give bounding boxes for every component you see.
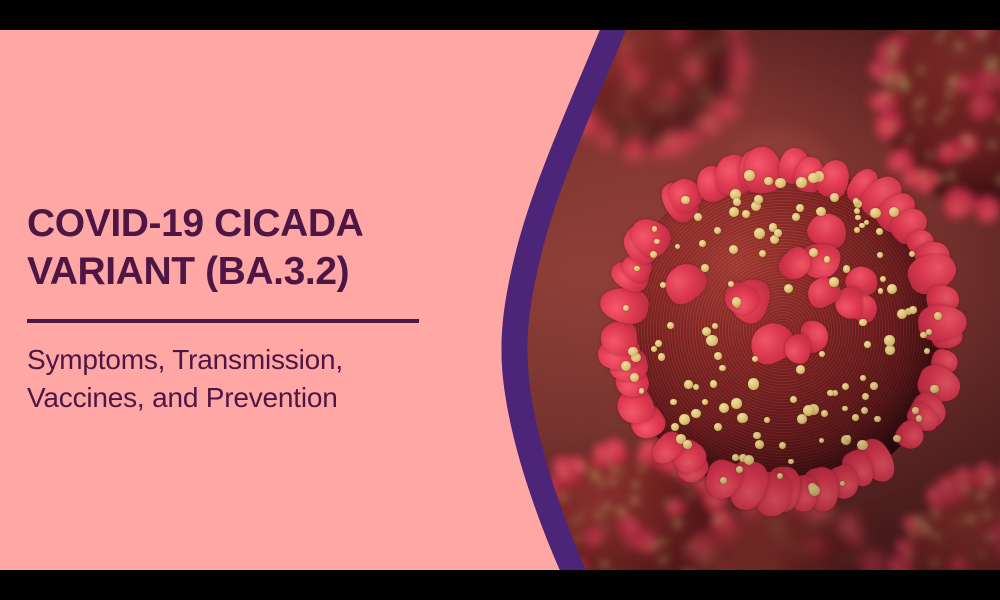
- virion-receptor-dot: [650, 251, 657, 258]
- virion-receptor-dot: [689, 99, 693, 103]
- virion-receptor-dot: [710, 380, 717, 387]
- virion-receptor-dot: [736, 466, 743, 473]
- virion-receptor-dot: [580, 534, 584, 538]
- virion-receptor-dot-layer: [618, 165, 948, 495]
- virion-receptor-dot: [552, 516, 559, 523]
- virion-receptor-dot: [748, 378, 759, 389]
- virion-receptor-dot: [696, 66, 701, 71]
- page-title: COVID-19 CICADA VARIANT (BA.3.2): [27, 200, 447, 295]
- subhead-line-2: Vaccines, and Prevention: [27, 379, 447, 417]
- subhead-line-1: Symptoms, Transmission,: [27, 341, 447, 379]
- virion-receptor-dot: [916, 415, 923, 422]
- virion-receptor-dot: [562, 472, 566, 476]
- virion-receptor-dot: [884, 335, 895, 346]
- banner-screen: COVID-19 CICADA VARIANT (BA.3.2) Symptom…: [0, 0, 1000, 600]
- page-subtitle: Symptoms, Transmission, Vaccines, and Pr…: [27, 341, 447, 417]
- virion-receptor-dot: [796, 365, 805, 374]
- virion-receptor-dot: [623, 305, 629, 311]
- virion-receptor-dot: [714, 227, 721, 234]
- virion-receptor-dot: [946, 92, 951, 97]
- virion-receptor-dot: [682, 106, 685, 109]
- virion-receptor-dot: [744, 455, 754, 465]
- virion-receptor-dot: [720, 39, 724, 43]
- virion-receptor-dot: [754, 228, 765, 239]
- virion-receptor-dot: [870, 382, 878, 390]
- virion-receptor-dot: [861, 407, 868, 414]
- virion-receptor-dot: [956, 522, 960, 526]
- virion-receptor-dot: [670, 111, 674, 115]
- virion-receptor-dot: [714, 352, 722, 360]
- virion-receptor-dot: [842, 406, 848, 412]
- virion-receptor-dot: [645, 37, 648, 40]
- virion-receptor-dot: [969, 516, 976, 523]
- letterbox-bar-top: [0, 0, 1000, 30]
- virion-receptor-dot: [799, 546, 804, 551]
- virion-receptor-dot: [888, 72, 894, 78]
- virion-receptor-dot: [584, 106, 590, 112]
- virion-receptor-dot: [808, 173, 818, 183]
- headline-line-1: COVID-19 CICADA: [27, 200, 447, 248]
- virion-receptor-dot: [986, 62, 993, 69]
- virion-receptor-dot: [625, 89, 630, 94]
- virion-receptor-dot: [878, 288, 883, 293]
- virion-receptor-dot: [606, 121, 612, 127]
- virion-receptor-dot: [683, 440, 692, 449]
- virion-receptor-dot: [792, 213, 800, 221]
- virion-receptor-dot: [737, 413, 747, 423]
- virion-receptor-dot: [893, 85, 898, 90]
- virion-receptor-dot: [652, 542, 658, 548]
- virion-receptor-dot: [796, 204, 804, 212]
- virion-receptor-dot: [870, 208, 880, 218]
- virion-receptor-dot: [889, 125, 894, 130]
- virion-receptor-dot: [795, 537, 799, 541]
- letterbox-bar-bottom: [0, 570, 1000, 600]
- virion-receptor-dot: [719, 365, 725, 371]
- virion-receptor-dot: [579, 465, 585, 471]
- virion-receptor-dot: [774, 229, 782, 237]
- virion-receptor-dot: [674, 520, 681, 527]
- virion-receptor-dot: [932, 511, 938, 517]
- virion-receptor-dot: [661, 539, 666, 544]
- virion-receptor-dot: [860, 375, 866, 381]
- virion-receptor-dot: [703, 86, 707, 90]
- virion-receptor-dot: [759, 250, 766, 257]
- virion-receptor-dot: [706, 555, 712, 561]
- virion-receptor-dot: [779, 442, 786, 449]
- virion-receptor-dot: [819, 438, 824, 443]
- virion-receptor-dot: [714, 423, 722, 431]
- virion-receptor-dot: [796, 177, 807, 188]
- virion-receptor-dot: [809, 485, 820, 496]
- virion-receptor-dot: [608, 110, 611, 113]
- virion-receptor-dot: [885, 345, 895, 355]
- virion-receptor-dot: [898, 73, 903, 78]
- virion-receptor-dot: [653, 136, 656, 139]
- virion-receptor-dot: [651, 346, 657, 352]
- virion-receptor-dot: [541, 493, 545, 497]
- virion-receptor-dot: [764, 417, 770, 423]
- virion-receptor-dot: [621, 361, 631, 371]
- virion-receptor-dot: [784, 284, 794, 294]
- virion-receptor-dot: [624, 41, 629, 46]
- virion-receptor-dot: [704, 46, 708, 50]
- virion-receptor-dot: [731, 398, 741, 408]
- virion-receptor-dot: [889, 45, 896, 52]
- virion-receptor-dot: [733, 198, 741, 206]
- primary-virion: [618, 165, 948, 495]
- virion-receptor-dot: [712, 555, 716, 559]
- virion-receptor-dot: [781, 539, 786, 544]
- virion-receptor-dot: [773, 519, 779, 525]
- virion-receptor-dot: [712, 323, 718, 329]
- virion-receptor-dot: [934, 534, 940, 540]
- virion-receptor-dot: [852, 414, 859, 421]
- virion-receptor-dot: [953, 75, 957, 79]
- virion-receptor-dot: [663, 85, 667, 89]
- virion-receptor-dot: [918, 67, 924, 73]
- virion-receptor-dot: [681, 196, 689, 204]
- virion-receptor-dot: [639, 388, 644, 393]
- virion-receptor-dot: [694, 213, 702, 221]
- virion-receptor-dot: [752, 356, 758, 362]
- virion-receptor-dot: [675, 244, 680, 249]
- virion-receptor-dot: [855, 215, 861, 221]
- virion-receptor-dot: [684, 58, 689, 63]
- virion-receptor-dot: [986, 479, 993, 486]
- virion-receptor-dot: [937, 117, 942, 122]
- virion-receptor-dot: [993, 68, 999, 74]
- virion-receptor-dot: [689, 494, 693, 498]
- virion-receptor-dot: [811, 512, 815, 516]
- virion-receptor-dot: [824, 256, 830, 262]
- virion-receptor-dot: [819, 351, 825, 357]
- virion-receptor-dot: [859, 223, 865, 229]
- virion-receptor-dot: [671, 423, 679, 431]
- virion-receptor-dot: [897, 309, 907, 319]
- virion-receptor-dot: [764, 177, 773, 186]
- virion-receptor-dot: [570, 103, 576, 109]
- virion-receptor-dot: [790, 396, 797, 403]
- headline-line-2: VARIANT (BA.3.2): [27, 248, 447, 296]
- virion-receptor-dot: [604, 504, 610, 510]
- virion-receptor-dot: [909, 306, 917, 314]
- virion-receptor-dot: [652, 226, 658, 232]
- virion-receptor-dot: [632, 117, 635, 120]
- virion-receptor-dot: [634, 266, 640, 272]
- virion-receptor-dot: [719, 403, 729, 413]
- virion-receptor-dot: [857, 440, 867, 450]
- virion-receptor-dot: [702, 399, 708, 405]
- virion-receptor-dot: [684, 380, 692, 388]
- virion-receptor-dot: [880, 276, 886, 282]
- virion-receptor-dot: [922, 529, 929, 536]
- virion-receptor-dot: [829, 277, 839, 287]
- virion-receptor-dot: [876, 228, 883, 235]
- virion-receptor-dot: [827, 390, 834, 397]
- virion-receptor-dot: [732, 297, 741, 306]
- virion-receptor-dot: [776, 531, 781, 536]
- virion-receptor-dot: [980, 552, 985, 557]
- virion-receptor-dot: [734, 554, 737, 557]
- banner-stage: COVID-19 CICADA VARIANT (BA.3.2) Symptom…: [0, 30, 1000, 570]
- virion-receptor-dot: [939, 32, 943, 36]
- virion-receptor-dot: [909, 251, 915, 257]
- virion-receptor-dot: [985, 57, 989, 61]
- virion-receptor-dot: [585, 95, 590, 100]
- virion-receptor-dot: [552, 547, 555, 550]
- virion-receptor-dot: [967, 140, 972, 145]
- virion-receptor-dot: [978, 492, 985, 499]
- virion-receptor-dot: [854, 208, 860, 214]
- virion-receptor-dot: [863, 546, 866, 549]
- virion-receptor-dot: [572, 520, 577, 525]
- virion-receptor-dot: [934, 312, 943, 321]
- virion-receptor-dot: [830, 193, 839, 202]
- virion-receptor-dot: [629, 84, 634, 89]
- virion-receptor-dot: [579, 515, 583, 519]
- virion-receptor-dot: [661, 137, 667, 143]
- virion-receptor-dot: [907, 552, 912, 557]
- virion-receptor-dot: [601, 561, 608, 568]
- virion-receptor-dot: [919, 97, 924, 102]
- virion-receptor-dot: [714, 44, 719, 49]
- virion-receptor-dot: [924, 348, 930, 354]
- virion-receptor-dot: [893, 435, 900, 442]
- virion-receptor-dot: [864, 341, 870, 347]
- virion-receptor-dot: [859, 319, 867, 327]
- virion-receptor-dot: [610, 478, 616, 484]
- virion-receptor-dot: [736, 559, 739, 562]
- virion-receptor-dot: [725, 85, 728, 88]
- virion-receptor-dot: [599, 481, 604, 486]
- virion-receptor-dot: [619, 34, 622, 37]
- virion-receptor-dot: [842, 383, 849, 390]
- virion-receptor-dot: [777, 473, 783, 479]
- virion-receptor-dot: [904, 30, 908, 31]
- virion-receptor-dot: [775, 178, 786, 189]
- virion-receptor-dot: [907, 137, 912, 142]
- virion-receptor-dot: [776, 525, 780, 529]
- virion-receptor-dot: [887, 284, 897, 294]
- virion-receptor-dot: [619, 102, 624, 107]
- virion-receptor-dot: [944, 108, 950, 114]
- virion-receptor-dot: [691, 78, 696, 83]
- virion-receptor-dot: [916, 518, 923, 525]
- virion-receptor-dot: [547, 505, 553, 511]
- virion-receptor-dot: [956, 42, 963, 49]
- virion-receptor-dot: [851, 556, 856, 561]
- virion-receptor-dot: [630, 373, 639, 382]
- virion-receptor-dot: [601, 50, 605, 54]
- virion-receptor-dot: [927, 153, 932, 158]
- virion-receptor-dot: [816, 207, 826, 217]
- virion-receptor-dot: [963, 488, 969, 494]
- virion-receptor-dot: [874, 416, 881, 423]
- virion-receptor-dot: [992, 57, 1000, 65]
- virion-receptor-dot: [742, 210, 750, 218]
- virion-receptor-dot: [882, 80, 887, 85]
- virion-receptor-dot: [989, 142, 995, 148]
- virion-receptor-dot: [854, 227, 860, 233]
- virion-receptor-dot: [693, 384, 700, 391]
- virion-receptor-dot: [917, 117, 922, 122]
- virion-receptor-dot: [655, 340, 662, 347]
- virion-receptor-dot: [732, 454, 739, 461]
- virion-receptor-dot: [821, 410, 828, 417]
- virion-receptor-dot: [877, 252, 883, 258]
- virion-receptor-dot: [667, 322, 674, 329]
- virion-receptor-dot: [660, 282, 666, 288]
- virion-receptor-dot: [599, 66, 605, 72]
- virion-receptor-dot: [889, 62, 893, 66]
- title-divider-rule: [27, 319, 419, 323]
- virion-receptor-dot: [960, 154, 965, 159]
- virion-receptor-dot: [711, 121, 715, 125]
- virion-receptor-dot: [930, 385, 938, 393]
- virion-receptor-dot: [582, 78, 587, 83]
- virion-receptor-dot: [603, 527, 607, 531]
- virion-receptor-dot: [706, 335, 717, 346]
- virion-receptor-dot: [641, 128, 647, 134]
- virion-receptor-dot: [670, 399, 676, 405]
- virion-receptor-dot: [755, 440, 764, 449]
- virion-receptor-dot: [809, 519, 815, 525]
- virion-receptor-dot: [910, 531, 916, 537]
- virion-receptor-dot: [660, 557, 667, 564]
- virion-receptor-dot: [892, 53, 898, 59]
- virion-receptor-dot: [754, 195, 762, 203]
- virion-receptor-dot: [560, 494, 566, 500]
- virion-receptor-dot: [948, 79, 956, 87]
- virion-receptor-dot: [816, 517, 820, 521]
- virion-receptor-dot: [797, 414, 807, 424]
- virion-receptor-dot: [646, 98, 650, 102]
- virion-receptor-dot: [987, 534, 993, 540]
- virion-receptor-dot: [605, 457, 610, 462]
- virion-receptor-dot: [668, 132, 673, 137]
- virion-receptor-dot: [596, 513, 601, 518]
- virion-receptor-dot: [728, 281, 734, 287]
- virion-receptor-dot: [691, 409, 701, 419]
- virion-receptor-dot: [915, 103, 921, 109]
- virion-receptor-dot: [701, 264, 709, 272]
- virion-receptor-dot: [729, 245, 738, 254]
- banner-text-block: COVID-19 CICADA VARIANT (BA.3.2) Symptom…: [27, 200, 447, 417]
- virion-receptor-dot: [825, 510, 831, 516]
- virion-receptor-dot: [980, 32, 986, 38]
- virion-receptor-dot: [654, 239, 660, 245]
- virion-receptor-dot: [611, 466, 617, 472]
- virion-receptor-dot: [697, 119, 702, 124]
- virion-receptor-dot: [886, 59, 890, 63]
- virion-receptor-dot: [612, 139, 616, 143]
- virion-receptor-dot: [695, 55, 700, 60]
- virion-receptor-dot: [770, 565, 775, 570]
- virion-receptor-dot: [883, 92, 890, 99]
- virion-receptor-dot: [991, 473, 995, 477]
- virion-receptor-dot: [666, 501, 671, 506]
- virion-receptor-dot: [729, 207, 739, 217]
- virion-receptor-dot: [926, 329, 932, 335]
- virion-receptor-dot: [809, 248, 818, 257]
- virion-receptor-dot: [706, 93, 710, 97]
- virion-receptor-dot: [862, 393, 869, 400]
- virion-receptor-dot: [658, 353, 665, 360]
- virion-receptor-dot: [843, 265, 850, 272]
- virion-receptor-dot: [984, 511, 991, 518]
- virion-receptor-dot: [841, 561, 846, 566]
- virion-receptor-dot: [901, 81, 907, 87]
- virion-receptor-dot: [744, 170, 755, 181]
- virion-receptor-dot: [573, 538, 577, 542]
- virion-receptor-dot: [842, 525, 847, 530]
- virion-receptor-dot: [618, 129, 622, 133]
- virion-receptor-dot: [622, 112, 627, 117]
- virion-receptor-dot: [976, 36, 980, 40]
- virion-receptor-dot: [889, 207, 899, 217]
- virion-receptor-dot: [720, 477, 727, 484]
- virion-receptor-dot: [679, 414, 689, 424]
- virion-receptor-dot: [788, 459, 794, 465]
- virion-receptor-dot: [631, 497, 638, 504]
- virion-receptor-dot: [937, 36, 942, 41]
- virion-receptor-dot: [627, 48, 630, 51]
- virion-receptor-dot: [699, 559, 705, 565]
- virion-receptor-dot: [932, 560, 938, 566]
- virion-receptor-dot: [656, 102, 660, 106]
- virion-receptor-dot: [753, 432, 761, 440]
- virion-receptor-dot: [665, 104, 670, 109]
- virion-receptor-dot: [705, 101, 711, 107]
- virion-receptor-dot: [619, 510, 626, 517]
- virion-receptor-dot: [903, 87, 908, 92]
- virion-receptor-dot: [706, 548, 710, 552]
- virion-receptor-dot: [654, 109, 658, 113]
- virion-receptor-dot: [628, 347, 638, 357]
- virion-receptor-dot: [708, 117, 712, 121]
- virion-receptor-dot: [948, 173, 955, 180]
- virion-receptor-dot: [699, 240, 706, 247]
- virion-receptor-dot: [912, 407, 918, 413]
